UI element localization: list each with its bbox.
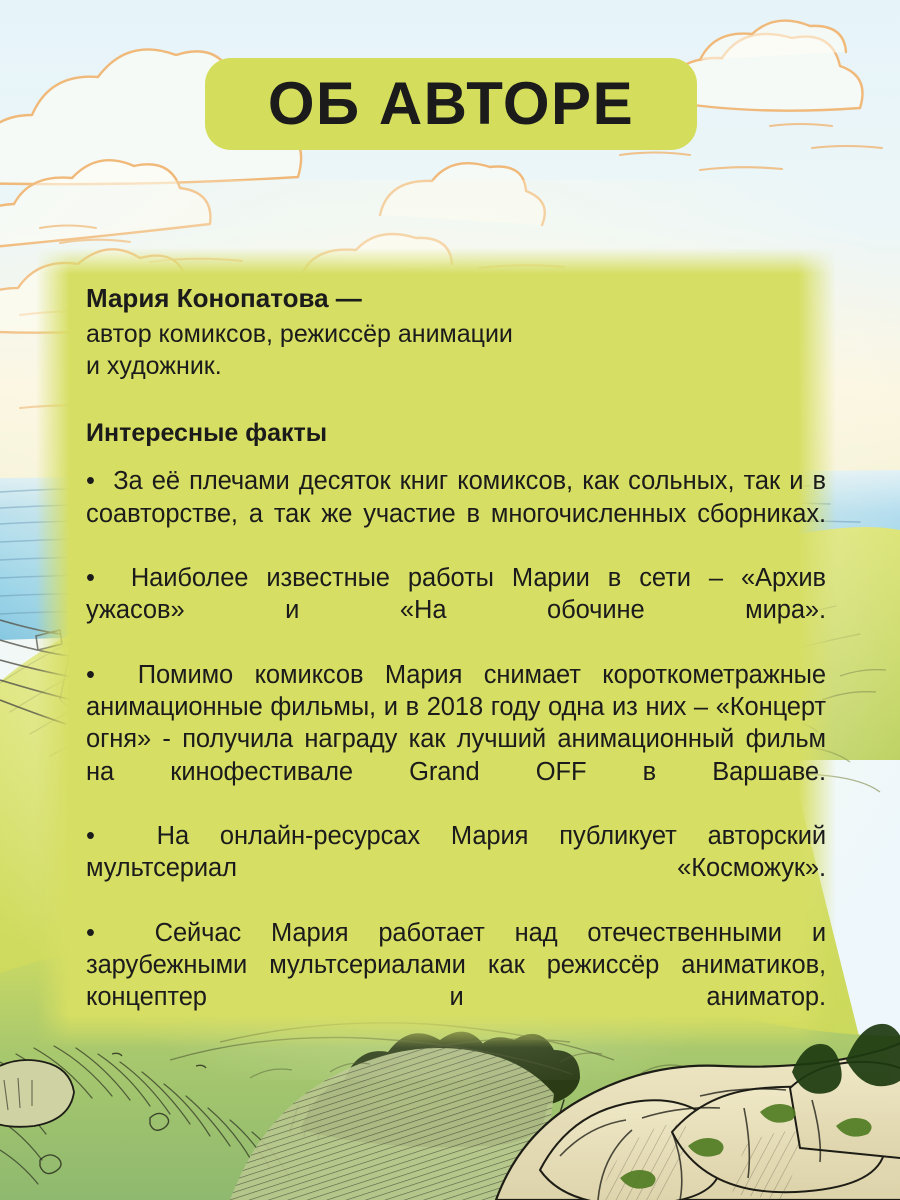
author-info-panel: Мария Конопатова — автор комиксов, режис…: [36, 248, 836, 1048]
bullet-icon: •: [86, 467, 95, 495]
fact-item: • Сейчас Мария работает над отечественны…: [86, 917, 826, 1046]
facts-heading: Интересные факты: [86, 417, 786, 450]
fact-text: За её плечами десяток книг комиксов, как…: [86, 467, 826, 527]
page-title: ОБ АВТОРЕ: [268, 74, 634, 134]
fact-item: • Помимо комиксов Мария снимает коротком…: [86, 659, 826, 820]
bullet-icon: •: [86, 822, 95, 850]
author-name: Мария Конопатова —: [86, 282, 786, 316]
fact-text: Сейчас Мария работает над отечественными…: [86, 919, 826, 1012]
panel-content: Мария Конопатова — автор комиксов, режис…: [86, 282, 786, 1046]
bullet-icon: •: [86, 564, 95, 592]
page-title-banner: ОБ АВТОРЕ: [205, 58, 697, 150]
bullet-icon: •: [86, 919, 95, 947]
author-page: ОБ АВТОРЕ Мария Конопатова — автор комик…: [0, 0, 900, 1200]
fact-item: • Наиболее известные работы Марии в сети…: [86, 562, 826, 659]
facts-list: • За её плечами десяток книг комиксов, к…: [86, 465, 826, 1046]
fact-item: • На онлайн-ресурсах Мария публикует авт…: [86, 820, 826, 917]
fact-text: На онлайн-ресурсах Мария публикует автор…: [86, 822, 826, 882]
fact-text: Наиболее известные работы Марии в сети –…: [86, 564, 826, 624]
fact-item: • За её плечами десяток книг комиксов, к…: [86, 465, 826, 562]
author-role-line-1: автор комиксов, режиссёр анимациии худож…: [86, 318, 786, 383]
fact-text: Помимо комиксов Мария снимает короткомет…: [86, 661, 826, 786]
bullet-icon: •: [86, 661, 95, 689]
